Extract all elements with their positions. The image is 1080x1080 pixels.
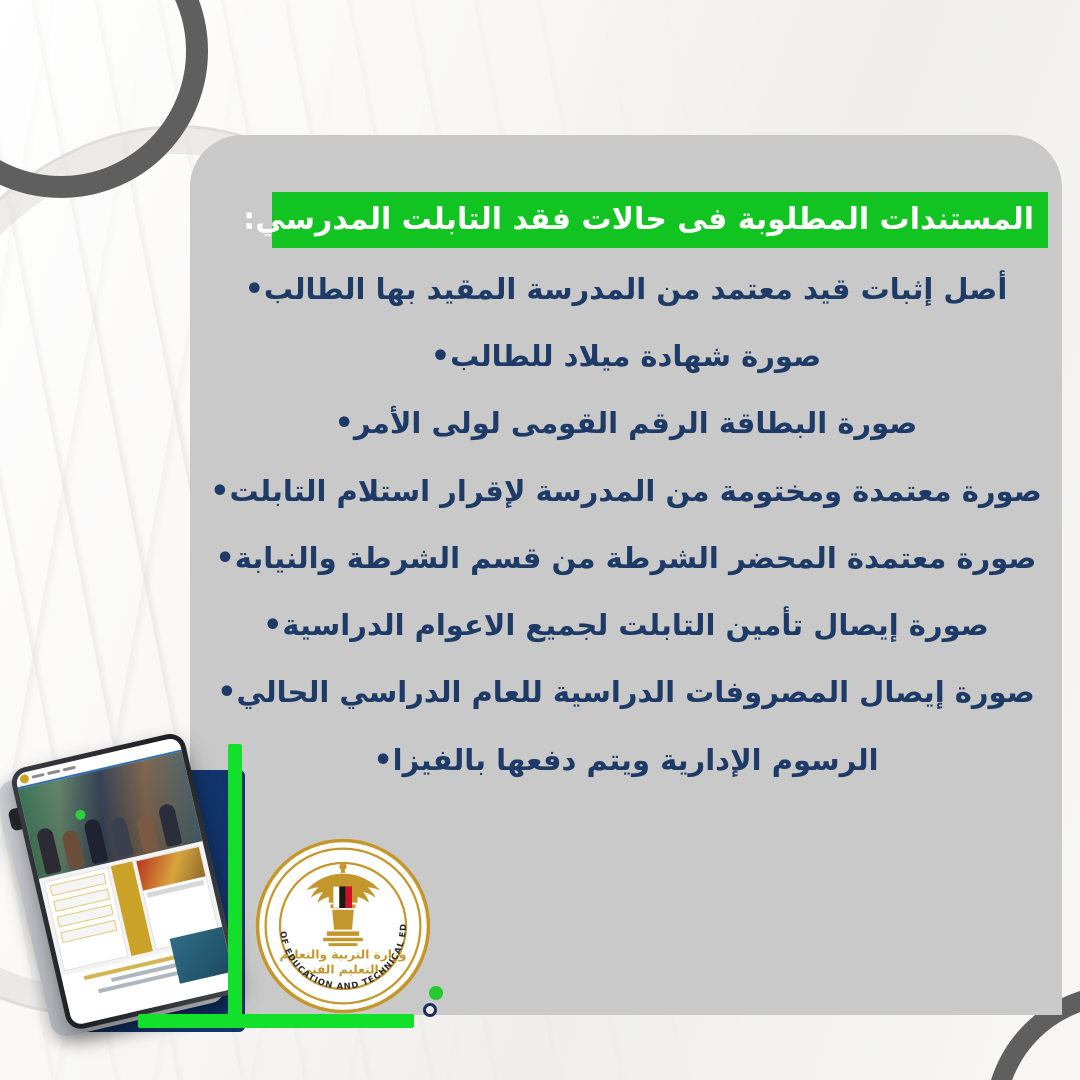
accent-bar-vertical bbox=[228, 744, 242, 1028]
bullet-marker: • bbox=[217, 675, 236, 710]
poster-root: المستندات المطلوبة فى حالات فقد التابلت … bbox=[0, 0, 1080, 1080]
hero-figure bbox=[135, 814, 159, 853]
hero-green-dot bbox=[74, 809, 86, 821]
list-item-text: صورة شهادة ميلاد للطالب bbox=[450, 339, 821, 373]
list-item: صورة إيصال المصروفات الدراسية للعام الدر… bbox=[190, 675, 1062, 709]
page-title: المستندات المطلوبة فى حالات فقد التابلت … bbox=[243, 205, 1034, 235]
navbar-logo-icon bbox=[19, 774, 30, 785]
bullet-marker: • bbox=[373, 743, 392, 778]
hero-figure bbox=[157, 803, 182, 848]
list-item: صورة البطاقة الرقم القومى لولى الأمر• bbox=[190, 406, 1062, 440]
bullet-marker: • bbox=[263, 608, 282, 643]
accent-bar-horizontal bbox=[138, 1014, 414, 1028]
bullet-marker: • bbox=[245, 272, 264, 307]
navbar-item bbox=[47, 769, 60, 775]
list-item: صورة إيصال تأمين التابلت لجميع الاعوام ا… bbox=[190, 608, 1062, 642]
bullet-marker: • bbox=[431, 339, 450, 374]
navbar-item bbox=[63, 766, 76, 772]
ministry-seal-logo: وزارة التربية والتعليم والتعليم الفنى MI… bbox=[253, 836, 433, 1016]
list-item-text: صورة معتمدة المحضر الشرطة من قسم الشرطة … bbox=[235, 541, 1037, 575]
navbar-item bbox=[31, 773, 44, 779]
bullet-marker: • bbox=[335, 406, 354, 441]
hero-figure bbox=[61, 829, 85, 870]
hero-figure bbox=[36, 827, 62, 875]
list-item-text: صورة البطاقة الرقم القومى لولى الأمر bbox=[354, 406, 918, 440]
list-item: الرسوم الإدارية ويتم دفعها بالفيزا• bbox=[190, 743, 1062, 777]
list-item-text: صورة إيصال تأمين التابلت لجميع الاعوام ا… bbox=[282, 608, 988, 642]
list-item-text: صورة إيصال المصروفات الدراسية للعام الدر… bbox=[236, 675, 1034, 709]
list-item: صورة معتمدة ومختومة من المدرسة لإقرار اس… bbox=[190, 474, 1062, 508]
documents-list: أصل إثبات قيد معتمد من المدرسة المقيد به… bbox=[190, 272, 1062, 810]
list-item-text: صورة معتمدة ومختومة من المدرسة لإقرار اس… bbox=[229, 474, 1041, 508]
bullet-marker: • bbox=[210, 474, 229, 509]
list-item: أصل إثبات قيد معتمد من المدرسة المقيد به… bbox=[190, 272, 1062, 306]
egypt-flag-shield bbox=[333, 886, 352, 908]
list-item: صورة معتمدة المحضر الشرطة من قسم الشرطة … bbox=[190, 541, 1062, 575]
title-banner: المستندات المطلوبة فى حالات فقد التابلت … bbox=[272, 192, 1048, 248]
hero-figure bbox=[109, 816, 134, 859]
bullet-marker: • bbox=[216, 541, 235, 576]
hero-figure bbox=[83, 818, 108, 864]
list-item-text: الرسوم الإدارية ويتم دفعها بالفيزا bbox=[393, 743, 879, 777]
list-item-text: أصل إثبات قيد معتمد من المدرسة المقيد به… bbox=[264, 272, 1007, 306]
list-item: صورة شهادة ميلاد للطالب• bbox=[190, 339, 1062, 373]
